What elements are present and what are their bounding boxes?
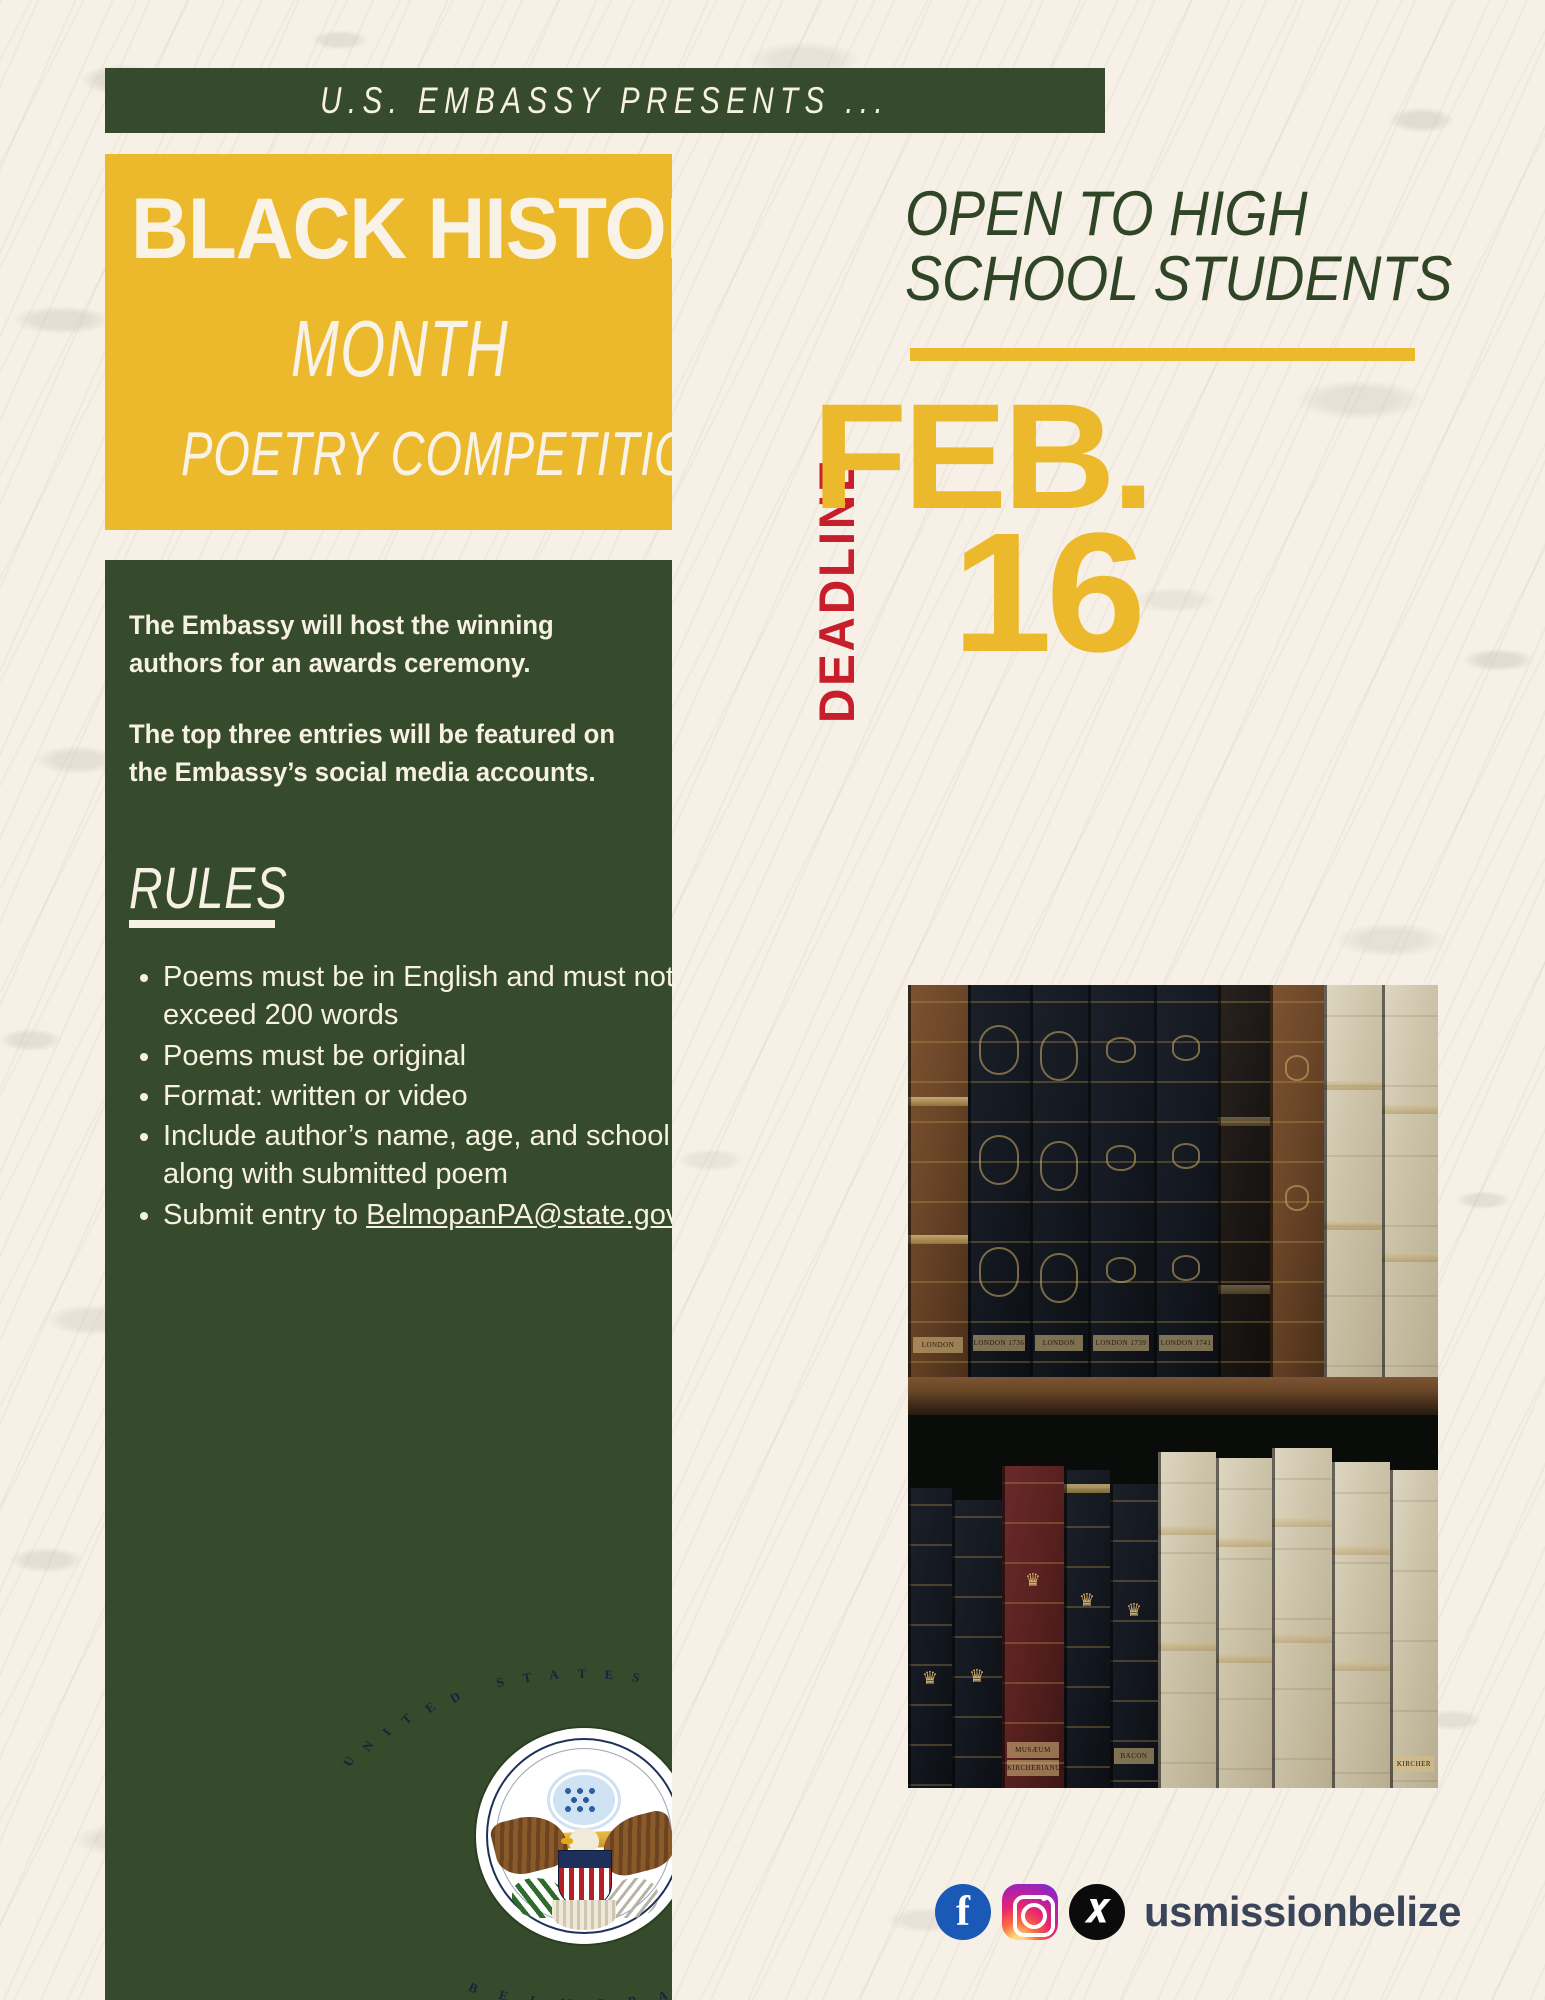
book-spine: ♛ MUSÆUM KIRCHERIANUM — [1002, 1466, 1064, 1788]
eligibility-line-2: SCHOOL STUDENTS — [905, 247, 1398, 312]
shelf-upper: LONDON LONDON 1736 LONDON 1737 LONDON 17… — [908, 985, 1438, 1377]
rules-list-item: Poems must be original — [163, 1037, 672, 1075]
yellow-divider-rule — [910, 348, 1415, 361]
book-spine: LONDON 1741 — [1154, 985, 1218, 1377]
paragraph-awards: The Embassy will host the winning author… — [129, 606, 623, 683]
instagram-icon[interactable] — [1002, 1884, 1058, 1940]
book-spine — [1332, 1462, 1390, 1788]
book-spine: ♛ — [908, 1488, 952, 1788]
rules-list-item: Submit entry to BelmopanPA@state.gov — [163, 1196, 672, 1234]
rules-heading-underline — [129, 920, 275, 928]
submission-email[interactable]: BelmopanPA@state.gov — [366, 1199, 672, 1231]
instagram-lens-icon — [1021, 1903, 1047, 1929]
x-glyph: 𝑿 — [1085, 1896, 1108, 1927]
seal-bottom-text: BELMOPAN — [476, 1910, 672, 1926]
x-twitter-icon[interactable]: 𝑿 — [1069, 1884, 1125, 1940]
title-line-1: BLACK HISTORY — [131, 190, 610, 269]
seal-glory-cloud-icon — [550, 1772, 618, 1828]
book-spine: ♛ BACON — [1110, 1484, 1158, 1788]
paragraph-social: The top three entries will be featured o… — [129, 715, 623, 792]
poster-canvas: U.S. EMBASSY PRESENTS ... BLACK HISTORY … — [0, 0, 1545, 2000]
shelf-lower: ♛ ♛ ♛ MUSÆUM KIRCHERIANUM ♛ ♛ BACON — [908, 1415, 1438, 1788]
rules-list-item: Include author’s name, age, and school a… — [163, 1117, 672, 1194]
eligibility-line-1: OPEN TO HIGH — [905, 182, 1398, 247]
book-spine: LONDON — [908, 985, 968, 1377]
header-band: U.S. EMBASSY PRESENTS ... — [105, 68, 1105, 133]
presents-text: U.S. EMBASSY PRESENTS ... — [320, 80, 889, 122]
book-spine — [1216, 1458, 1272, 1788]
facebook-icon[interactable]: f — [935, 1884, 991, 1940]
embassy-seal: UNITED STATES EMBASSY ★ ★ BELMOPAN — [476, 1728, 672, 1944]
rules-list: Poems must be in English and must not ex… — [129, 958, 672, 1236]
book-spine: ♛ — [952, 1500, 1002, 1788]
social-handle: usmissionbelize — [1144, 1888, 1461, 1936]
rules-heading: RULES — [129, 855, 288, 922]
title-line-2: MONTH — [224, 309, 577, 389]
book-spine — [1158, 1452, 1216, 1788]
book-spines-lower: ♛ ♛ ♛ MUSÆUM KIRCHERIANUM ♛ ♛ BACON — [908, 1415, 1438, 1788]
book-spine — [1382, 985, 1438, 1377]
title-block: BLACK HISTORY MONTH POETRY COMPETITION — [105, 154, 672, 530]
book-spine: ♛ — [1064, 1470, 1110, 1788]
info-panel: The Embassy will host the winning author… — [105, 560, 672, 2000]
shelf-divider — [908, 1377, 1438, 1415]
book-spines-upper: LONDON LONDON 1736 LONDON 1737 LONDON 17… — [908, 985, 1438, 1377]
seal-top-text: UNITED STATES EMBASSY — [476, 1752, 672, 1768]
book-spine — [1218, 985, 1270, 1377]
title-line-3: POETRY COMPETITION — [181, 424, 599, 486]
social-media-row: f 𝑿 usmissionbelize — [935, 1884, 1461, 1940]
facebook-glyph: f — [956, 1891, 970, 1933]
book-spine: KIRCHER — [1390, 1470, 1438, 1788]
eligibility-text: OPEN TO HIGH SCHOOL STUDENTS — [905, 182, 1398, 312]
book-spine — [1270, 985, 1324, 1377]
deadline-day: 16 — [952, 520, 1140, 666]
book-spine — [1324, 985, 1382, 1377]
rules-list-item: Poems must be in English and must not ex… — [163, 958, 672, 1035]
instagram-dot-icon — [1041, 1895, 1047, 1901]
rules-list-item: Format: written or video — [163, 1077, 672, 1115]
book-spine: LONDON 1737 — [1030, 985, 1088, 1377]
bookshelf-photo: LONDON LONDON 1736 LONDON 1737 LONDON 17… — [908, 985, 1438, 1788]
book-spine — [1272, 1448, 1332, 1788]
book-spine: LONDON 1736 — [968, 985, 1030, 1377]
book-spine: LONDON 1739 — [1088, 985, 1154, 1377]
